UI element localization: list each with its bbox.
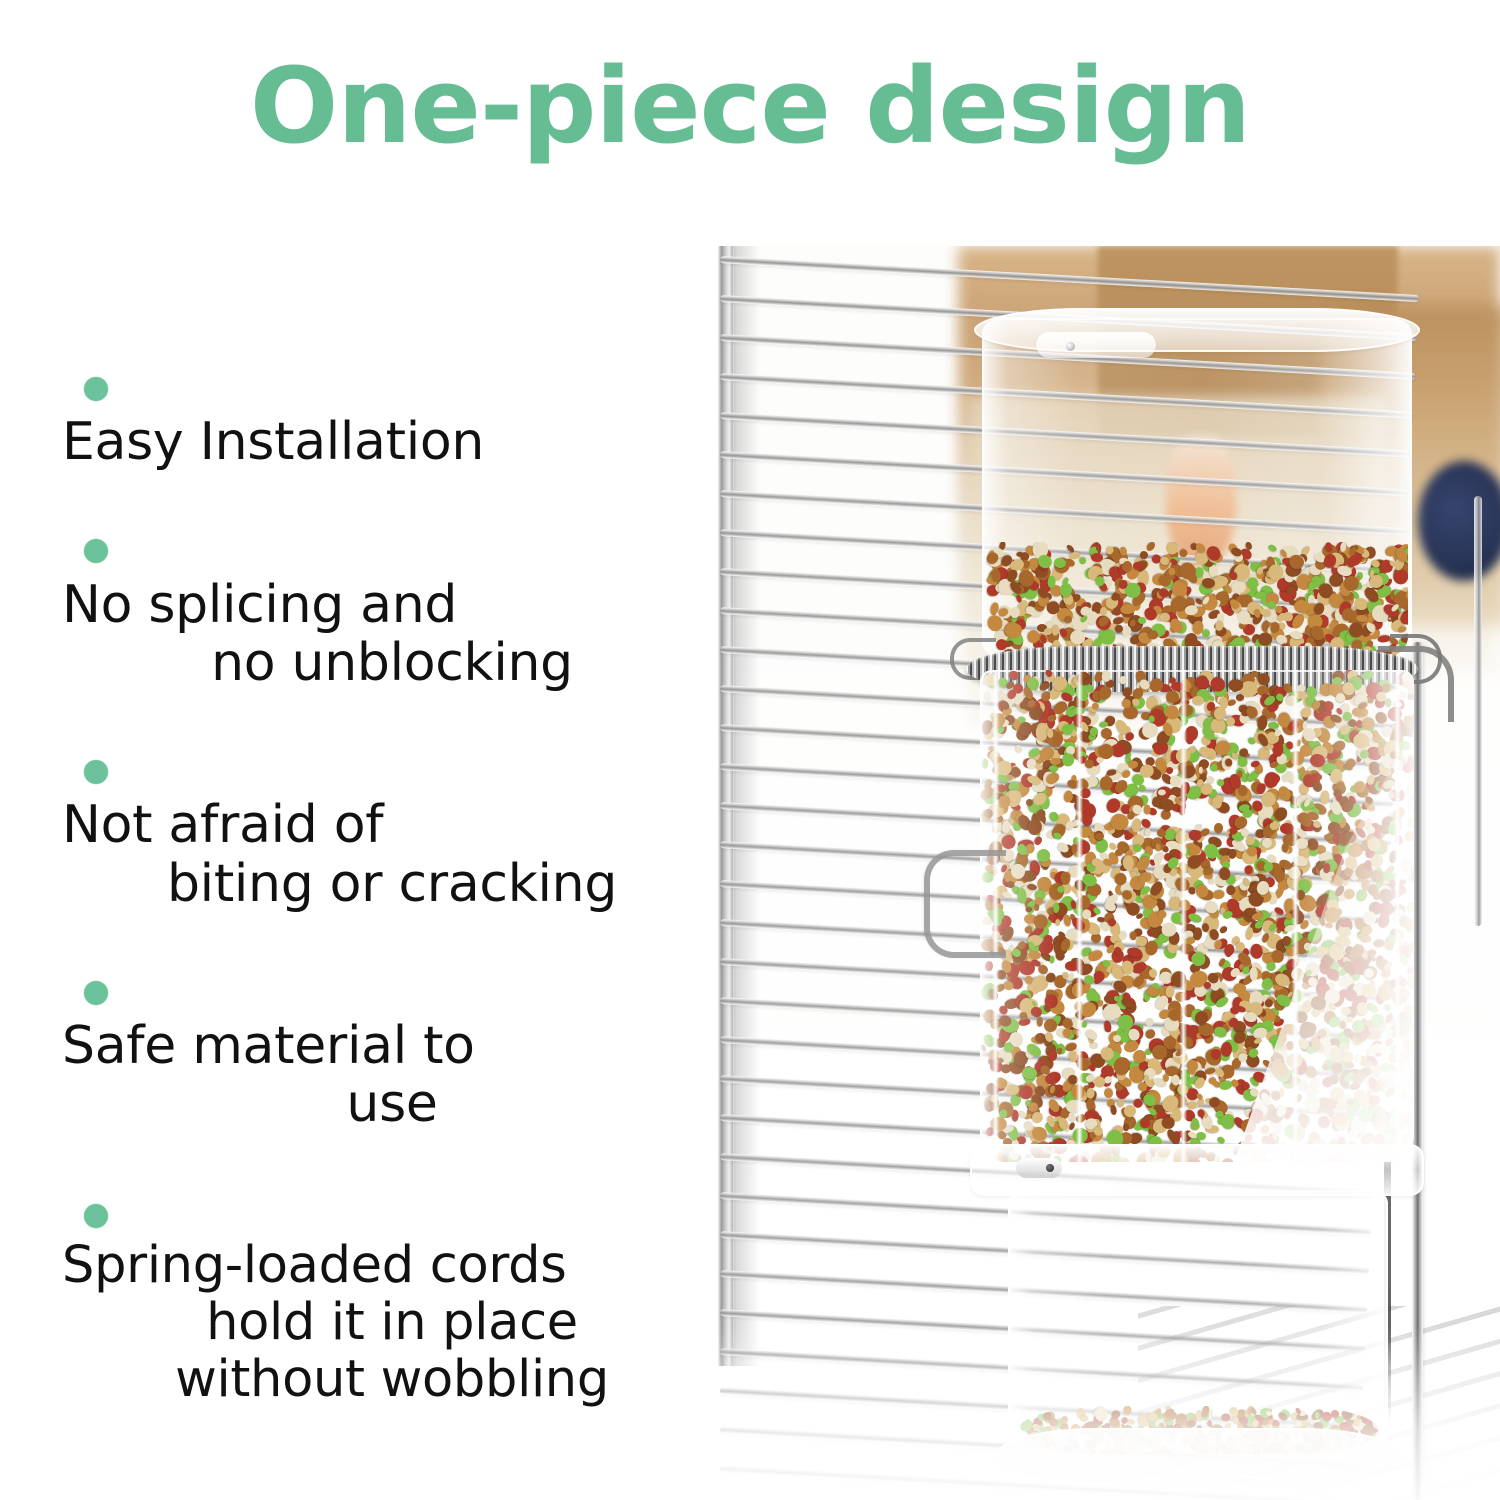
feature-line: Spring-loaded cords: [62, 1237, 722, 1294]
feature-item-spring-loaded-cords: Spring-loaded cords hold it in place wit…: [62, 1180, 722, 1408]
feature-line: no unblocking: [62, 634, 722, 692]
seed-feeder: [718, 246, 1500, 1500]
bullet-dot-icon: [84, 377, 108, 401]
collar-screw-icon: [1016, 1158, 1062, 1178]
body-rib: [1180, 670, 1187, 1162]
feature-line: without wobbling: [62, 1351, 722, 1408]
feature-line: use: [62, 1075, 722, 1133]
bullet-dot-icon: [84, 760, 108, 784]
base-rim: [998, 1428, 1398, 1478]
lid-latch: [1036, 332, 1156, 358]
feature-line: Easy Installation: [62, 413, 722, 471]
feature-line: Safe material to: [62, 1017, 722, 1075]
page-title: One-piece design: [0, 52, 1500, 161]
lid-screw-icon: [1066, 342, 1075, 351]
feature-item-no-splicing: No splicing and no unblocking: [62, 517, 722, 692]
body-rib: [1076, 670, 1083, 1162]
feature-line: hold it in place: [62, 1294, 722, 1351]
feature-text: No splicing and no unblocking: [62, 576, 722, 692]
upper-chamber-seed-layer: [986, 542, 1408, 656]
bullet-dot-icon: [84, 981, 108, 1005]
feature-item-not-afraid-of-biting: Not afraid of biting or cracking: [62, 738, 722, 913]
left-wire-hook: [924, 850, 1006, 958]
bird-cage-seed-feeder-photo: [718, 246, 1500, 1500]
feature-text: Easy Installation: [62, 413, 722, 471]
bullet-dot-icon: [84, 539, 108, 563]
seed-filled-body: [980, 670, 1414, 1162]
body-rib: [1394, 670, 1401, 1162]
feature-line: No splicing and: [62, 576, 722, 634]
infographic-page: One-piece design Easy Installation No sp…: [0, 0, 1500, 1500]
feature-text: Spring-loaded cords hold it in place wit…: [62, 1237, 722, 1408]
feature-list: Easy Installation No splicing and no unb…: [62, 355, 722, 1454]
feature-line: biting or cracking: [62, 855, 722, 913]
feature-text: Safe material to use: [62, 1017, 722, 1133]
feature-line: Not afraid of: [62, 796, 722, 854]
feature-item-safe-material: Safe material to use: [62, 959, 722, 1134]
bullet-dot-icon: [84, 1204, 108, 1228]
feature-item-easy-installation: Easy Installation: [62, 355, 722, 471]
body-rib: [1292, 670, 1299, 1162]
feature-text: Not afraid of biting or cracking: [62, 796, 722, 912]
